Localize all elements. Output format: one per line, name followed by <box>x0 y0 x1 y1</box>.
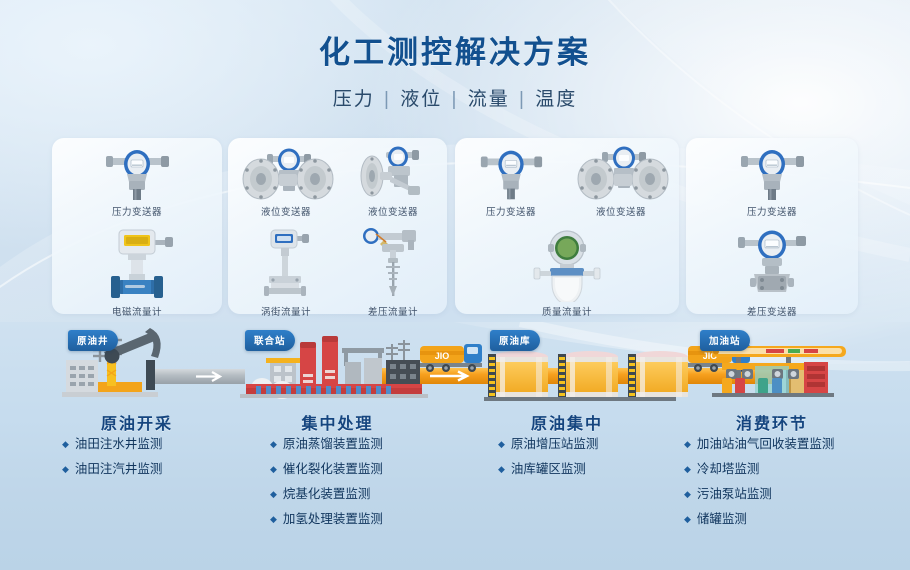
stage-badge-union-station[interactable]: 联合站 <box>245 330 295 351</box>
list-item: ◆原油蒸馏装置监测 <box>270 432 383 457</box>
list-item: ◆油库罐区监测 <box>498 457 598 482</box>
bullet-diamond-icon: ◆ <box>270 507 277 532</box>
subtitle-part-temperature: 温度 <box>535 89 577 110</box>
product-label: 压力变送器 <box>459 204 563 218</box>
subtitle-part-pressure: 压力 <box>333 89 375 110</box>
list-item: ◆加氢处理装置监测 <box>270 507 383 532</box>
product-item[interactable]: 差压流量计 <box>340 226 446 318</box>
level-transmitter-flange-icon <box>230 150 342 202</box>
differential-pressure-flowmeter-icon <box>340 226 446 302</box>
stage-name-storage: 原油集中 <box>455 410 679 434</box>
bullet-text: 冷却塔监测 <box>697 457 760 482</box>
subtitle-part-level: 液位 <box>400 89 442 110</box>
product-label: 差压变送器 <box>686 304 858 318</box>
bullet-diamond-icon: ◆ <box>270 457 277 482</box>
bullet-text: 油田注水井监测 <box>75 432 163 457</box>
vortex-flowmeter-icon <box>230 226 342 302</box>
list-item: ◆烷基化装置监测 <box>270 482 383 507</box>
product-label: 质量流量计 <box>455 304 679 318</box>
product-item[interactable]: 压力变送器 <box>686 150 858 218</box>
bullet-diamond-icon: ◆ <box>270 432 277 457</box>
page-header: 化工测控解决方案 压力 | 液位 | 流量 | 温度 <box>0 34 910 111</box>
stage-name-consumption: 消费环节 <box>686 410 858 434</box>
differential-pressure-transmitter-icon <box>686 226 858 302</box>
product-card-pressure[interactable]: 压力变送器 电磁流 <box>52 138 222 314</box>
level-transmitter-single-flange-icon <box>340 150 446 202</box>
product-label: 液位变送器 <box>230 204 342 218</box>
list-item: ◆催化裂化装置监测 <box>270 457 383 482</box>
bullet-text: 污油泵站监测 <box>697 482 772 507</box>
mass-flowmeter-icon <box>455 226 679 302</box>
product-card-differential[interactable]: 压力变送器 <box>686 138 858 314</box>
product-item[interactable]: 液位变送器 <box>230 150 342 218</box>
bullet-list-extraction: ◆油田注水井监测 ◆油田注汽井监测 <box>62 432 162 482</box>
bullet-diamond-icon: ◆ <box>684 507 691 532</box>
product-item[interactable]: 液位变送器 <box>563 150 679 218</box>
list-item: ◆冷却塔监测 <box>684 457 834 482</box>
page-subtitle: 压力 | 液位 | 流量 | 温度 <box>0 84 910 111</box>
bullet-list-consumption: ◆加油站油气回收装置监测 ◆冷却塔监测 ◆污油泵站监测 ◆储罐监测 <box>684 432 834 532</box>
bullet-diamond-icon: ◆ <box>684 457 691 482</box>
pipeline-section: JIO <box>0 322 910 570</box>
product-label: 涡街流量计 <box>230 304 342 318</box>
product-label: 差压流量计 <box>340 304 446 318</box>
bullet-text: 原油增压站监测 <box>511 432 599 457</box>
product-item[interactable]: 液位变送器 <box>340 150 446 218</box>
list-item: ◆污油泵站监测 <box>684 482 834 507</box>
product-card-pressure-level-mass[interactable]: 压力变送器 <box>455 138 679 314</box>
bullet-text: 原油蒸馏装置监测 <box>283 432 383 457</box>
stage-badge-gas-station[interactable]: 加油站 <box>700 330 750 351</box>
truck-label-1: JIO <box>435 351 450 361</box>
bullet-text: 加氢处理装置监测 <box>283 507 383 532</box>
product-card-level-flow[interactable]: 液位变送器 <box>228 138 447 314</box>
electromagnetic-flowmeter-icon <box>52 226 222 302</box>
bullet-list-storage: ◆原油增压站监测 ◆油库罐区监测 <box>498 432 598 482</box>
bullet-diamond-icon: ◆ <box>270 482 277 507</box>
bullet-list-processing: ◆原油蒸馏装置监测 ◆催化裂化装置监测 ◆烷基化装置监测 ◆加氢处理装置监测 <box>270 432 383 532</box>
subtitle-separator: | <box>384 89 391 110</box>
page-title: 化工测控解决方案 <box>0 34 910 73</box>
bullet-text: 烷基化装置监测 <box>283 482 371 507</box>
subtitle-separator: | <box>519 89 526 110</box>
bullet-diamond-icon: ◆ <box>62 432 69 457</box>
product-card-row: 压力变送器 电磁流 <box>0 138 910 314</box>
stage-badge-oil-well[interactable]: 原油井 <box>68 330 118 351</box>
list-item: ◆原油增压站监测 <box>498 432 598 457</box>
product-label: 液位变送器 <box>563 204 679 218</box>
product-item[interactable]: 压力变送器 <box>459 150 563 218</box>
stage-name-processing: 集中处理 <box>228 410 447 434</box>
stage-name-extraction: 原油开采 <box>52 410 222 434</box>
product-item[interactable]: 压力变送器 <box>52 150 222 218</box>
bullet-text: 催化裂化装置监测 <box>283 457 383 482</box>
bullet-text: 油田注汽井监测 <box>75 457 163 482</box>
bullet-diamond-icon: ◆ <box>684 482 691 507</box>
pressure-transmitter-icon <box>52 150 222 202</box>
bullet-diamond-icon: ◆ <box>684 432 691 457</box>
list-item: ◆油田注汽井监测 <box>62 457 162 482</box>
list-item: ◆加油站油气回收装置监测 <box>684 432 834 457</box>
bullet-text: 加油站油气回收装置监测 <box>697 432 835 457</box>
bullet-diamond-icon: ◆ <box>498 457 505 482</box>
product-label: 压力变送器 <box>686 204 858 218</box>
list-item: ◆储罐监测 <box>684 507 834 532</box>
stage-badge-oil-depot[interactable]: 原油库 <box>490 330 540 351</box>
bullet-text: 油库罐区监测 <box>511 457 586 482</box>
pressure-transmitter-icon <box>686 150 858 202</box>
bullet-diamond-icon: ◆ <box>62 457 69 482</box>
list-item: ◆油田注水井监测 <box>62 432 162 457</box>
product-item[interactable]: 差压变送器 <box>686 226 858 318</box>
product-item[interactable]: 质量流量计 <box>455 226 679 318</box>
bullet-diamond-icon: ◆ <box>498 432 505 457</box>
product-label: 电磁流量计 <box>52 304 222 318</box>
product-item[interactable]: 电磁流量计 <box>52 226 222 318</box>
level-transmitter-flange-icon <box>563 150 679 202</box>
product-item[interactable]: 涡街流量计 <box>230 226 342 318</box>
product-label: 压力变送器 <box>52 204 222 218</box>
bullet-text: 储罐监测 <box>697 507 747 532</box>
subtitle-separator: | <box>452 89 459 110</box>
subtitle-part-flow: 流量 <box>468 89 510 110</box>
pressure-transmitter-icon <box>459 150 563 202</box>
product-label: 液位变送器 <box>340 204 446 218</box>
